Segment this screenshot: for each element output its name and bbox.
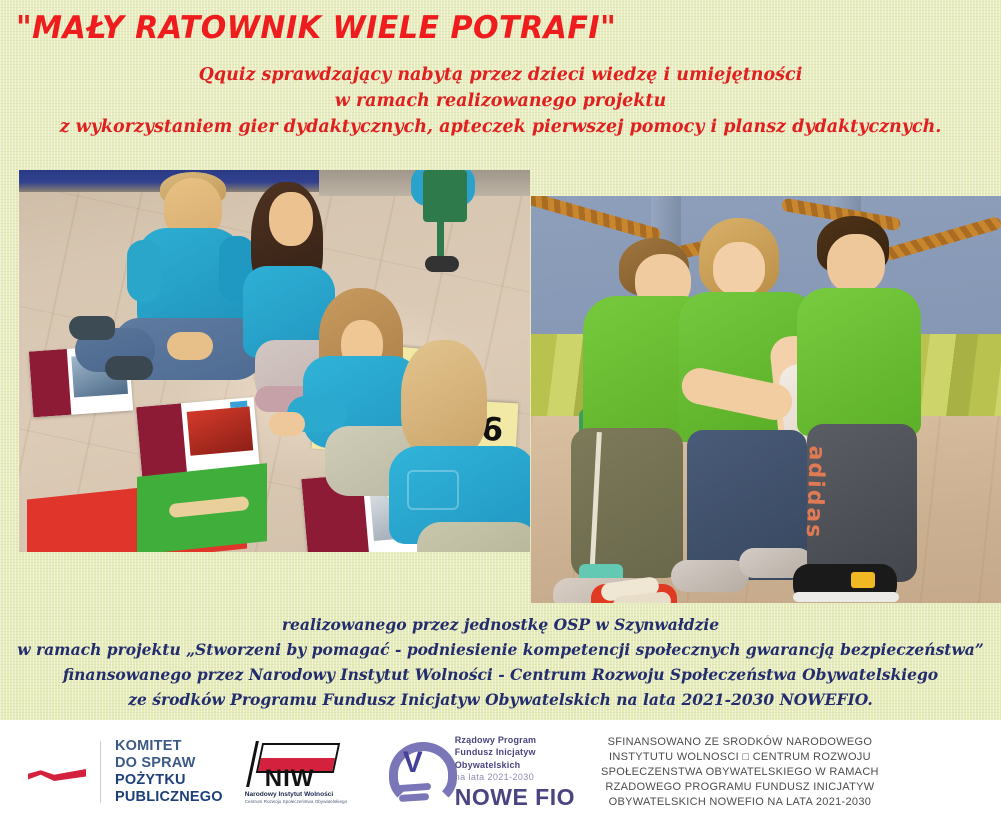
footer-logos-bar: KOMITET DO SPRAW POŻYTKU PUBLICZNEGO NIW… xyxy=(0,720,1001,824)
child-green-3-shirt xyxy=(797,288,921,436)
brochure-image xyxy=(186,406,253,456)
nowe-fio-logo: V Rządowy Program Fundusz Inicjatyw Obyw… xyxy=(383,734,575,811)
niw-subtitle-1: Narodowy Instytut Wolności xyxy=(245,791,334,798)
child-blue-1-sleeve-left xyxy=(127,240,161,302)
background-child-shoe xyxy=(425,256,459,272)
subtitle-block: Qquiz sprawdzający nabytą przez dzieci w… xyxy=(0,62,1001,140)
komitet-line-1: KOMITET xyxy=(115,738,223,755)
subtitle-line-3: z wykorzystaniem gier dydaktycznych, apt… xyxy=(0,114,1001,140)
child-green-2-face xyxy=(713,242,765,296)
financing-line-5: OBYWATELSKICH NOWEFIO NA LATA 2021-2030 xyxy=(601,795,879,810)
photo-left-children-number-cards: 9 9 8 9 7 5 9 9 xyxy=(19,170,530,552)
financing-line-1: SFINANSOWANO ZE SRODKÓW NARODOWEGO xyxy=(601,735,879,750)
green-chair xyxy=(423,170,467,222)
financing-statement: SFINANSOWANO ZE SRODKÓW NARODOWEGO INSTY… xyxy=(601,735,879,810)
child-blue-4-hair xyxy=(401,340,487,458)
komitet-line-3: POŻYTKU xyxy=(115,772,223,789)
description-line-2: w ramach projektu „Stworzeni by pomagać … xyxy=(0,637,1001,662)
polish-flag-icon xyxy=(28,755,86,789)
pants-brand-text: adidas xyxy=(801,445,829,540)
child-blue-3-hand xyxy=(269,412,305,436)
flag-white-stripe xyxy=(28,761,86,772)
fio-line-1: Rządowy Program xyxy=(455,734,575,747)
lightbulb-icon: V xyxy=(383,740,445,804)
description-block: realizowanego przez jednostkę OSP w Szyn… xyxy=(0,612,1001,712)
description-line-1: realizowanego przez jednostkę OSP w Szyn… xyxy=(0,612,1001,637)
financing-line-3: SPOŁECZENSTWA OBYWATELSKIEGO W RAMACH xyxy=(601,765,879,780)
poster-root: "MAŁY RATOWNIK WIELE POTRAFI" Qquiz spra… xyxy=(0,0,1001,824)
divider xyxy=(100,741,101,803)
fio-line-3: Obywatelskich xyxy=(455,759,575,772)
description-line-3: finansowanego przez Narodowy Instytut Wo… xyxy=(0,662,1001,687)
child-blue-4-pocket xyxy=(407,470,459,510)
child-blue-1-shoe-left xyxy=(69,316,115,340)
brochure-left-panel xyxy=(136,403,187,479)
komitet-line-4: PUBLICZNEGO xyxy=(115,789,223,806)
child-green-1-pants xyxy=(571,428,683,578)
niw-logo: NIW Narodowy Instytut Wolności Centrum R… xyxy=(245,741,349,803)
niw-acronym: NIW xyxy=(265,765,315,793)
child-blue-2-face xyxy=(269,192,313,246)
subtitle-line-2: w ramach realizowanego projektu xyxy=(0,88,1001,114)
bulb-letter: V xyxy=(403,748,423,778)
financing-line-4: RZADOWEGO PROGRAMU FUNDUSZ INICJATYW xyxy=(601,780,879,795)
niw-subtitle-2: Centrum Rozwoju Społeczeństwa Obywatelsk… xyxy=(245,799,347,804)
description-line-4: ze środków Programu Fundusz Inicjatyw Ob… xyxy=(0,687,1001,712)
green-chair-leg xyxy=(437,214,444,260)
fio-years: na lata 2021-2030 xyxy=(455,771,575,784)
komitet-line-2: DO SPRAW xyxy=(115,755,223,772)
fio-name: NOWE FIO xyxy=(455,784,575,810)
photo-right-children-bandaging: adidas xyxy=(531,196,1001,603)
child-green-3-shoe-sole xyxy=(793,592,899,602)
subtitle-line-1: Qquiz sprawdzający nabytą przez dzieci w… xyxy=(0,62,1001,88)
child-blue-4-pants xyxy=(417,522,530,552)
fio-line-2: Fundusz Inicjatyw xyxy=(455,746,575,759)
komitet-logo-text: KOMITET DO SPRAW POŻYTKU PUBLICZNEGO xyxy=(115,738,223,806)
child-green-2-shoe-left xyxy=(671,560,749,592)
fio-text-block: Rządowy Program Fundusz Inicjatyw Obywat… xyxy=(455,734,575,811)
child-blue-1-hand xyxy=(167,332,213,360)
shoe-logo xyxy=(851,572,875,588)
page-title: "MAŁY RATOWNIK WIELE POTRAFI" xyxy=(16,10,616,46)
financing-line-2: INSTYTUTU WOLNOSCI □ CENTRUM ROZWOJU xyxy=(601,750,879,765)
child-green-3-face xyxy=(827,234,885,294)
child-blue-1-shoe-right xyxy=(105,356,153,380)
brochure-left-panel xyxy=(29,349,72,417)
